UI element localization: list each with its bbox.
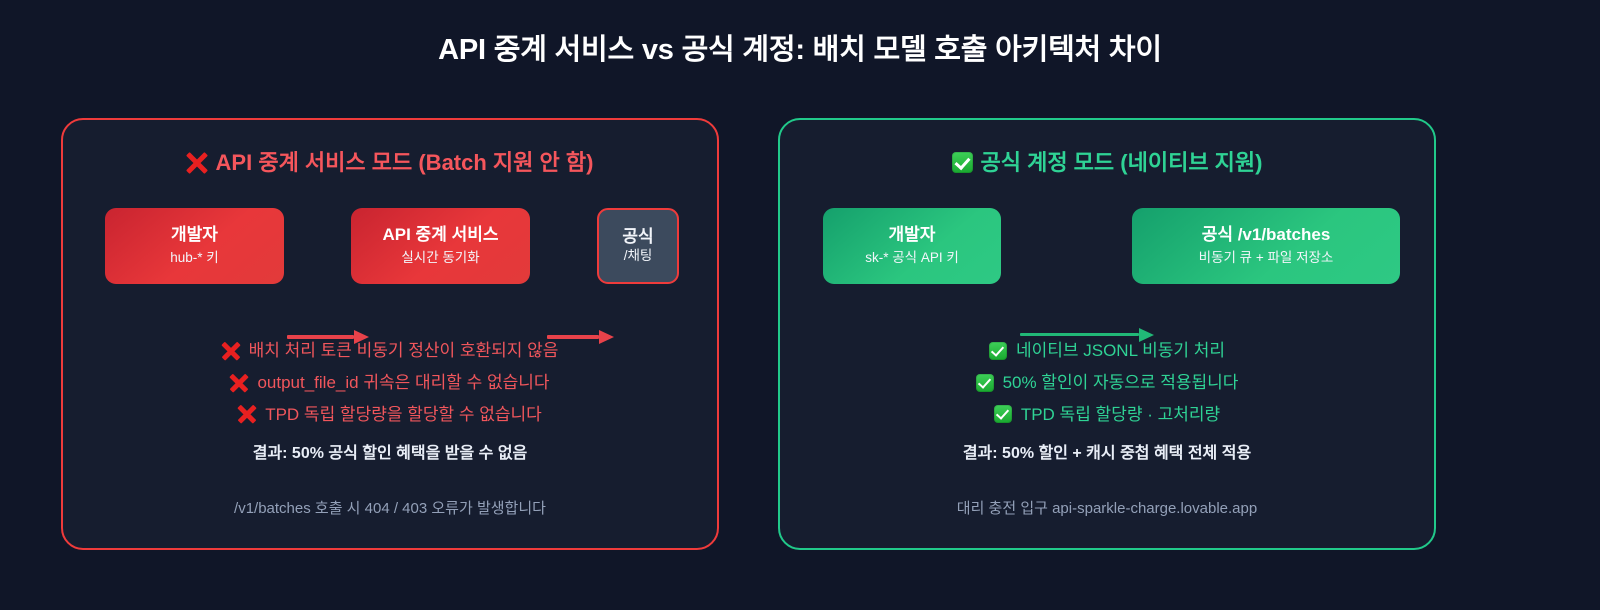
left-footnote: /v1/batches 호출 시 404 / 403 오류가 발생합니다 (63, 497, 717, 518)
right-footnote: 대리 충전 입구 api-sparkle-charge.lovable.app (780, 497, 1434, 518)
list-item: 네이티브 JSONL 비동기 처리 (780, 340, 1434, 362)
right-node-row: 개발자 sk-* 공식 API 키 공식 /v1/batches 비동기 큐 +… (780, 208, 1434, 294)
node-title: 공식 /v1/batches (1202, 224, 1331, 246)
list-item-label: output_file_id 귀속은 대리할 수 없습니다 (257, 372, 549, 394)
panel-relay-mode: API 중계 서비스 모드 (Batch 지원 안 함) 개발자 hub-* 키… (61, 118, 719, 550)
node-title: 공식 (622, 226, 653, 248)
list-item-label: 배치 처리 토큰 비동기 정산이 호환되지 않음 (249, 340, 559, 362)
panel-left-header: API 중계 서비스 모드 (Batch 지원 안 함) (63, 145, 717, 177)
cross-mark-icon (230, 374, 248, 392)
panel-left-header-text: API 중계 서비스 모드 (Batch 지원 안 함) (216, 150, 594, 175)
node-subtitle: sk-* 공식 API 키 (865, 249, 959, 268)
list-item-label: TPD 독립 할당량 · 고처리량 (1021, 404, 1220, 426)
node-subtitle: hub-* 키 (170, 249, 218, 268)
check-mark-button-icon (994, 405, 1012, 423)
panel-right-header-text: 공식 계정 모드 (네이티브 지원) (981, 150, 1263, 175)
node-official-batches[interactable]: 공식 /v1/batches 비동기 큐 + 파일 저장소 (1132, 208, 1400, 284)
node-relay-service[interactable]: API 중계 서비스 실시간 동기화 (351, 208, 530, 284)
list-item-label: 50% 할인이 자동으로 적용됩니다 (1003, 372, 1239, 394)
diagram-page: API 중계 서비스 vs 공식 계정: 배치 모델 호출 아키텍처 차이 AP… (0, 0, 1600, 610)
list-item-label: TPD 독립 할당량을 할당할 수 없습니다 (265, 404, 542, 426)
page-title: API 중계 서비스 vs 공식 계정: 배치 모델 호출 아키텍처 차이 (0, 26, 1600, 68)
node-subtitle: /채팅 (624, 247, 653, 266)
check-mark-button-icon (989, 342, 1007, 360)
right-summary: 결과: 50% 할인 + 캐시 중첩 혜택 전체 적용 (780, 439, 1434, 463)
panel-right-header: 공식 계정 모드 (네이티브 지원) (780, 145, 1434, 177)
cross-mark-icon (222, 342, 240, 360)
cross-mark-icon (238, 405, 256, 423)
left-bullet-list: 배치 처리 토큰 비동기 정산이 호환되지 않음 output_file_id … (63, 340, 717, 463)
node-title: 개발자 (889, 224, 936, 246)
check-mark-button-icon (952, 152, 973, 173)
node-subtitle: 실시간 동기화 (401, 249, 479, 268)
list-item: TPD 독립 할당량을 할당할 수 없습니다 (63, 404, 717, 426)
list-item: TPD 독립 할당량 · 고처리량 (780, 404, 1434, 426)
check-mark-button-icon (976, 374, 994, 392)
list-item: 배치 처리 토큰 비동기 정산이 호환되지 않음 (63, 340, 717, 362)
list-item: 50% 할인이 자동으로 적용됩니다 (780, 372, 1434, 394)
node-title: API 중계 서비스 (383, 224, 499, 246)
cross-mark-icon (187, 152, 208, 173)
list-item: output_file_id 귀속은 대리할 수 없습니다 (63, 372, 717, 394)
right-bullet-list: 네이티브 JSONL 비동기 처리 50% 할인이 자동으로 적용됩니다 TPD… (780, 340, 1434, 463)
node-developer-left[interactable]: 개발자 hub-* 키 (105, 208, 284, 284)
list-item-label: 네이티브 JSONL 비동기 처리 (1016, 340, 1225, 362)
node-subtitle: 비동기 큐 + 파일 저장소 (1199, 249, 1334, 268)
left-node-row: 개발자 hub-* 키 API 중계 서비스 실시간 동기화 공식 /채팅 (63, 208, 717, 294)
node-developer-right[interactable]: 개발자 sk-* 공식 API 키 (823, 208, 1001, 284)
node-official-chat[interactable]: 공식 /채팅 (597, 208, 679, 284)
panel-official-mode: 공식 계정 모드 (네이티브 지원) 개발자 sk-* 공식 API 키 공식 … (778, 118, 1436, 550)
left-summary: 결과: 50% 공식 할인 혜택을 받을 수 없음 (63, 439, 717, 463)
node-title: 개발자 (171, 224, 218, 246)
